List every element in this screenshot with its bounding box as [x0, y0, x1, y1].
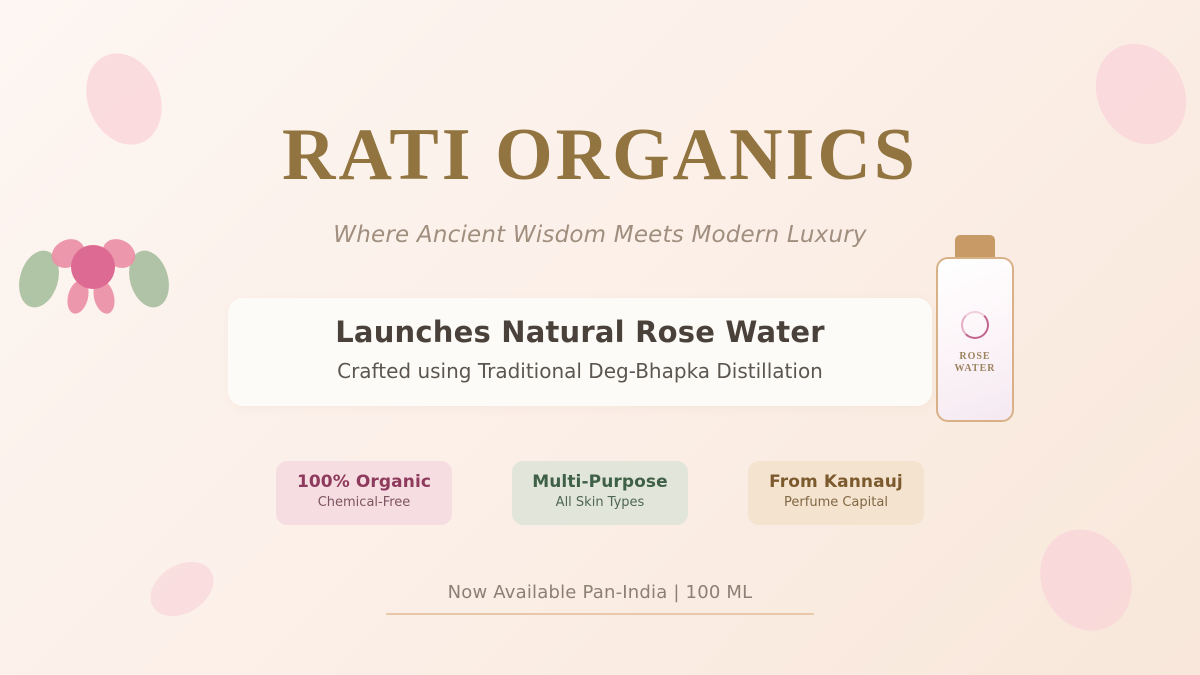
feature-pill-title: From Kannauj	[748, 472, 924, 492]
rose-ring-logo-icon	[961, 311, 989, 339]
bottle-label-line-2: WATER	[938, 363, 1012, 375]
feature-pill-title: 100% Organic	[276, 472, 452, 492]
feature-pill-subtitle: Chemical-Free	[276, 494, 452, 512]
feature-pill-title: Multi-Purpose	[512, 472, 688, 492]
announcement-headline: Launches Natural Rose Water	[228, 315, 932, 349]
announcement-card: Launches Natural Rose Water Crafted usin…	[228, 298, 932, 406]
footer-divider	[386, 613, 814, 615]
feature-pill-subtitle: All Skin Types	[512, 494, 688, 512]
bottle-label-line-1: ROSE	[938, 351, 1012, 363]
announcement-subheadline: Crafted using Traditional Deg-Bhapka Dis…	[228, 359, 932, 383]
promo-poster: RATI ORGANICS Where Ancient Wisdom Meets…	[0, 0, 1200, 675]
brand-tagline: Where Ancient Wisdom Meets Modern Luxury	[0, 222, 1200, 248]
feature-pill-subtitle: Perfume Capital	[748, 494, 924, 512]
feature-pill-kannauj: From Kannauj Perfume Capital	[748, 461, 924, 525]
availability-note: Now Available Pan-India | 100 ML	[0, 582, 1200, 603]
decorative-blob-bottom-right	[1024, 514, 1149, 646]
feature-pill-group: 100% Organic Chemical-Free Multi-Purpose…	[276, 461, 924, 525]
bottle-body: ROSE WATER	[936, 257, 1014, 422]
feature-pill-organic: 100% Organic Chemical-Free	[276, 461, 452, 525]
product-bottle-illustration: ROSE WATER	[936, 235, 1014, 422]
bottle-label: ROSE WATER	[938, 351, 1012, 375]
brand-title: RATI ORGANICS	[0, 118, 1200, 192]
flower-core-icon	[71, 245, 115, 289]
feature-pill-multi-purpose: Multi-Purpose All Skin Types	[512, 461, 688, 525]
